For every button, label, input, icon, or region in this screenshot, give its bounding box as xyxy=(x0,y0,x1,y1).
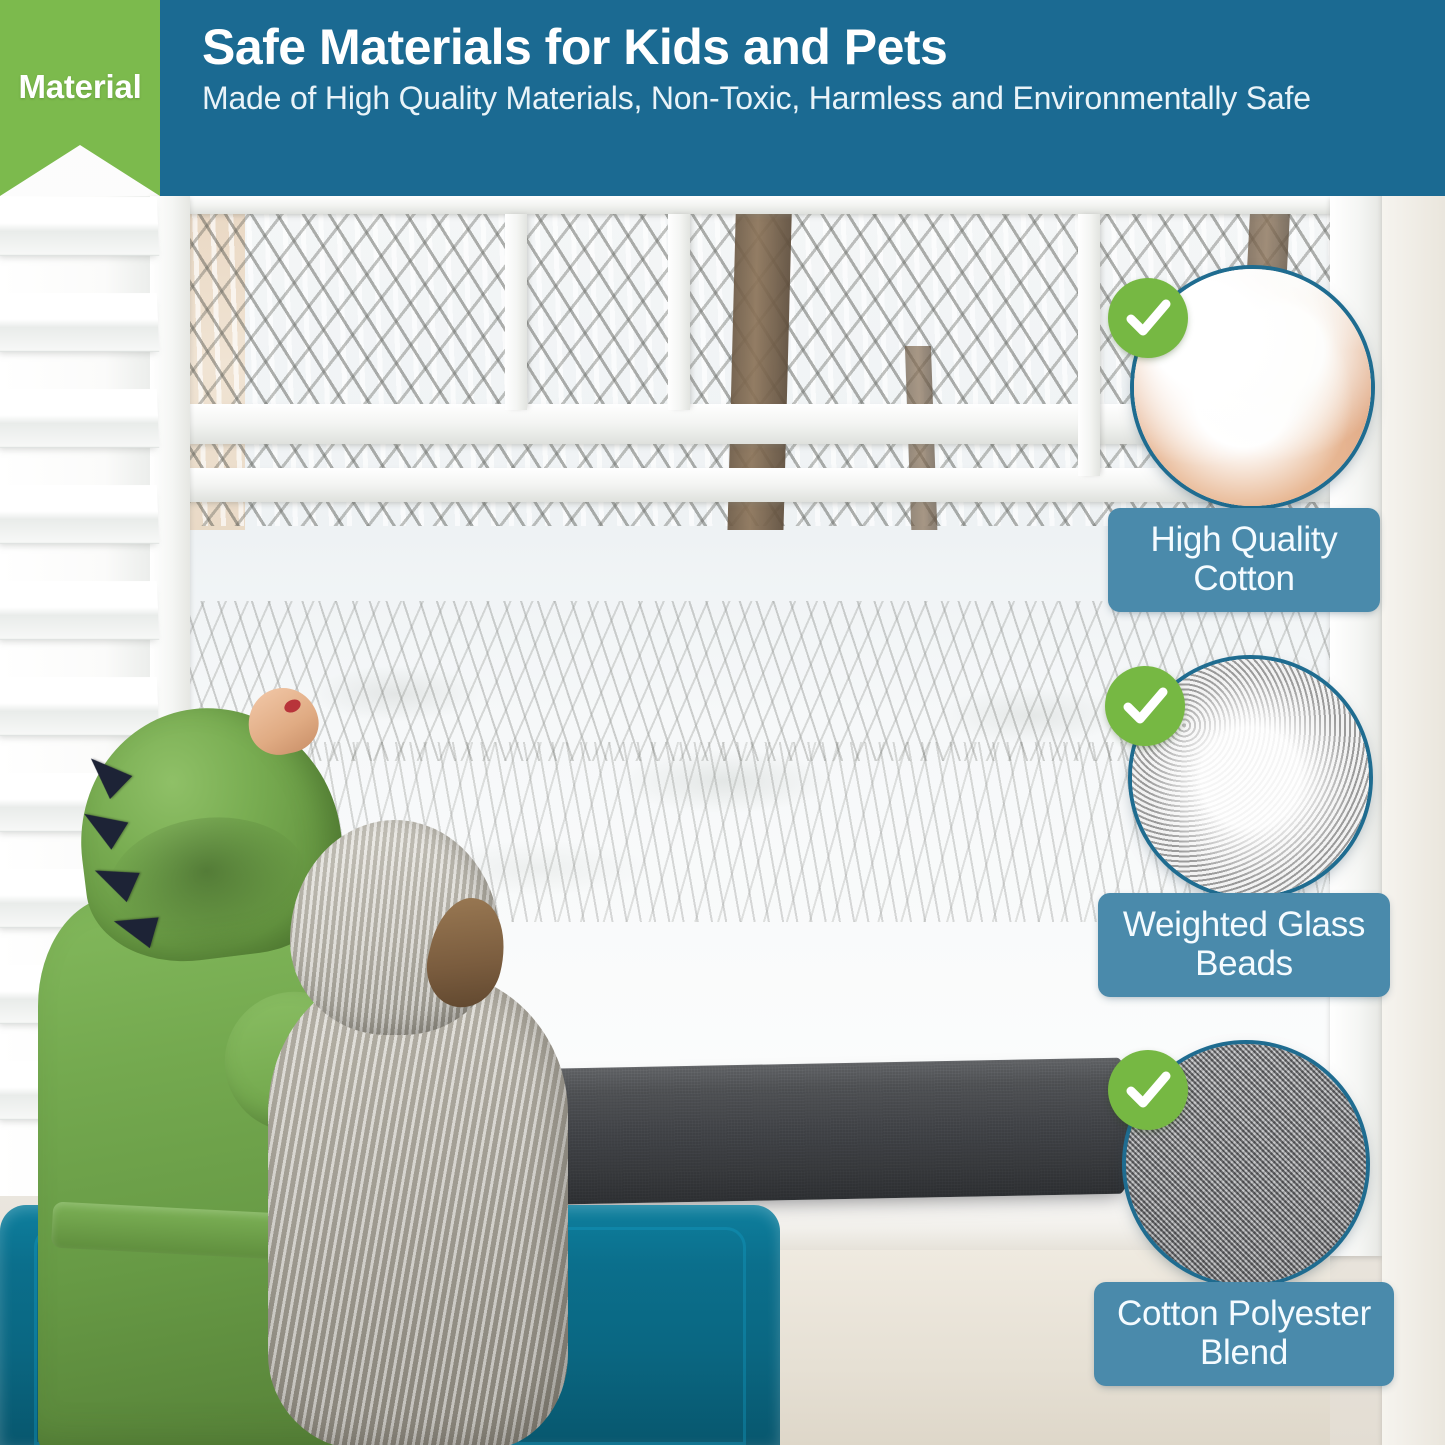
page-title: Safe Materials for Kids and Pets xyxy=(202,22,1419,74)
shutter-louver xyxy=(0,197,159,256)
check-icon xyxy=(1108,1050,1188,1130)
cotton-label-pill: High Quality Cotton xyxy=(1108,508,1380,612)
check-icon xyxy=(1105,666,1185,746)
cotton-label-line1: High Quality xyxy=(1124,520,1364,559)
check-icon xyxy=(1108,278,1188,358)
material-badge-label: Material xyxy=(0,68,160,106)
shutter-louver xyxy=(0,293,159,352)
window-mullion-vertical-right xyxy=(1078,214,1100,476)
window-head-rail xyxy=(185,196,1360,214)
shutter-louver xyxy=(0,581,159,640)
cotton-label-line2: Cotton xyxy=(1124,559,1364,598)
fabric-label-line2: Blend xyxy=(1110,1333,1378,1372)
dog-figure xyxy=(268,820,598,1445)
fabric-label-line1: Cotton Polyester xyxy=(1110,1294,1378,1333)
glass-beads-label-pill: Weighted Glass Beads xyxy=(1098,893,1390,997)
dog-head xyxy=(290,820,500,1035)
infographic-canvas: Material Safe Materials for Kids and Pet… xyxy=(0,0,1445,1445)
window-mullion-vertical-left xyxy=(505,214,527,410)
header-banner: Safe Materials for Kids and Pets Made of… xyxy=(160,0,1445,196)
window-mullion-vertical-mid xyxy=(668,214,690,410)
shutter-louver xyxy=(0,389,159,448)
shutter-louver xyxy=(0,485,159,544)
glass-beads-label-line1: Weighted Glass xyxy=(1114,905,1374,944)
glass-beads-label-line2: Beads xyxy=(1114,944,1374,983)
page-subtitle: Made of High Quality Materials, Non-Toxi… xyxy=(202,80,1419,117)
fabric-label-pill: Cotton Polyester Blend xyxy=(1094,1282,1394,1386)
dog-body xyxy=(268,970,568,1445)
window-trim-right xyxy=(1382,0,1445,1445)
